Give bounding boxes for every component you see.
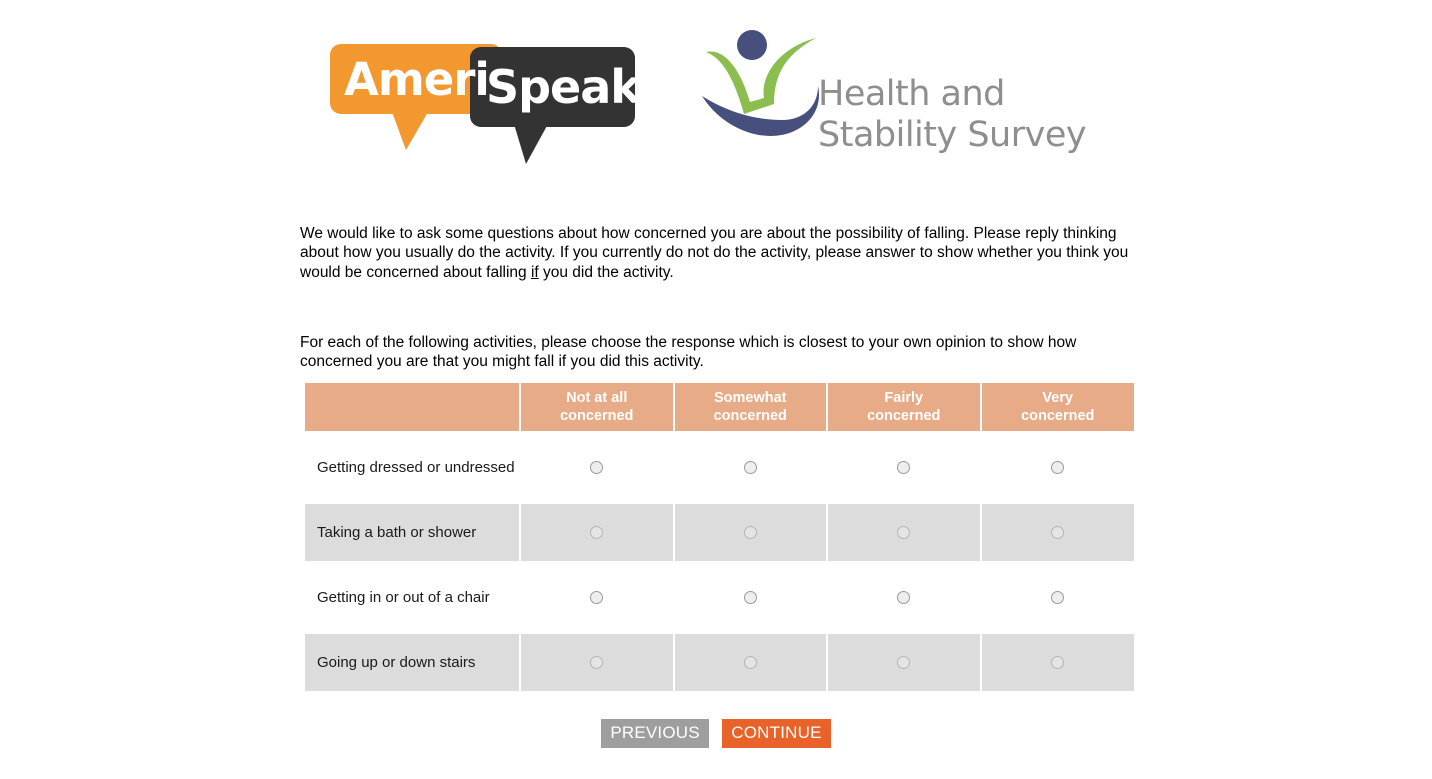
matrix-column-header-1: Not at all concerned — [520, 383, 674, 431]
radio-row2-not-at-all-concerned[interactable] — [590, 526, 603, 539]
column-header-line1: Fairly — [884, 390, 923, 406]
radio-cell-row3-col2[interactable] — [674, 561, 828, 634]
column-header-line2: concerned — [867, 408, 940, 424]
instruction-paragraph: For each of the following activities, pl… — [300, 333, 1120, 372]
radio-row3-not-at-all-concerned[interactable] — [590, 591, 603, 604]
radio-row4-somewhat-concerned[interactable] — [744, 656, 757, 669]
column-header-line1: Not at all — [566, 390, 627, 406]
intro-text-part2: you did the activity. — [539, 264, 674, 281]
radio-cell-row4-col4[interactable] — [981, 634, 1135, 691]
radio-row3-very-concerned[interactable] — [1051, 591, 1064, 604]
radio-cell-row2-col3[interactable] — [827, 504, 981, 561]
radio-row1-very-concerned[interactable] — [1051, 461, 1064, 474]
survey-logo-text: Health and Stability Survey — [818, 74, 1086, 156]
speech-bubble-tail-orange-icon — [392, 112, 428, 150]
table-row: Getting dressed or undressed — [305, 431, 1134, 504]
radio-row4-fairly-concerned[interactable] — [897, 656, 910, 669]
radio-cell-row2-col2[interactable] — [674, 504, 828, 561]
amerispeak-word-ameri: Ameri — [344, 57, 489, 102]
activity-label: Getting dressed or undressed — [305, 431, 520, 504]
radio-cell-row2-col4[interactable] — [981, 504, 1135, 561]
column-header-line2: concerned — [714, 408, 787, 424]
radio-cell-row1-col1[interactable] — [520, 431, 674, 504]
radio-row2-very-concerned[interactable] — [1051, 526, 1064, 539]
intro-emphasis-if: if — [531, 264, 539, 281]
speech-bubble-tail-dark-icon — [514, 124, 548, 164]
intro-paragraph: We would like to ask some questions abou… — [300, 224, 1132, 283]
survey-logo-line1: Health and — [818, 74, 1086, 115]
table-row: Going up or down stairs — [305, 634, 1134, 691]
amerispeak-logo: Ameri Speak — [330, 44, 635, 144]
running-figure-icon — [700, 28, 825, 143]
radio-cell-row2-col1[interactable] — [520, 504, 674, 561]
activity-label: Going up or down stairs — [305, 634, 520, 691]
navigation-bar: PREVIOUS CONTINUE — [0, 719, 1432, 748]
radio-row3-fairly-concerned[interactable] — [897, 591, 910, 604]
table-row: Taking a bath or shower — [305, 504, 1134, 561]
radio-cell-row4-col3[interactable] — [827, 634, 981, 691]
radio-row4-very-concerned[interactable] — [1051, 656, 1064, 669]
table-row: Getting in or out of a chair — [305, 561, 1134, 634]
column-header-line1: Somewhat — [714, 390, 787, 406]
radio-row1-somewhat-concerned[interactable] — [744, 461, 757, 474]
activity-label: Taking a bath or shower — [305, 504, 520, 561]
column-header-line2: concerned — [560, 408, 633, 424]
radio-row1-fairly-concerned[interactable] — [897, 461, 910, 474]
matrix-header-row: Not at all concerned Somewhat concerned … — [305, 383, 1134, 431]
matrix-column-header-2: Somewhat concerned — [674, 383, 828, 431]
matrix-column-header-3: Fairly concerned — [827, 383, 981, 431]
concern-matrix-table: Not at all concerned Somewhat concerned … — [305, 383, 1134, 691]
radio-row4-not-at-all-concerned[interactable] — [590, 656, 603, 669]
radio-cell-row4-col2[interactable] — [674, 634, 828, 691]
continue-button[interactable]: CONTINUE — [722, 719, 830, 748]
radio-cell-row4-col1[interactable] — [520, 634, 674, 691]
radio-row2-fairly-concerned[interactable] — [897, 526, 910, 539]
speech-bubble-orange-icon: Ameri — [330, 44, 502, 114]
radio-row2-somewhat-concerned[interactable] — [744, 526, 757, 539]
radio-cell-row3-col4[interactable] — [981, 561, 1135, 634]
survey-logo-line2: Stability Survey — [818, 115, 1086, 156]
radio-cell-row1-col4[interactable] — [981, 431, 1135, 504]
health-stability-survey-logo: Health and Stability Survey — [700, 28, 1100, 148]
radio-cell-row1-col2[interactable] — [674, 431, 828, 504]
radio-cell-row3-col3[interactable] — [827, 561, 981, 634]
radio-row3-somewhat-concerned[interactable] — [744, 591, 757, 604]
speech-bubble-dark-icon: Speak — [470, 47, 635, 127]
radio-cell-row3-col1[interactable] — [520, 561, 674, 634]
column-header-line2: concerned — [1021, 408, 1094, 424]
activity-label: Getting in or out of a chair — [305, 561, 520, 634]
logo-bar: Ameri Speak Health and Stability Survey — [0, 0, 1432, 175]
previous-button[interactable]: PREVIOUS — [601, 719, 708, 748]
radio-row1-not-at-all-concerned[interactable] — [590, 461, 603, 474]
matrix-corner-cell — [305, 383, 520, 431]
intro-text-part1: We would like to ask some questions abou… — [300, 225, 1128, 281]
matrix-column-header-4: Very concerned — [981, 383, 1135, 431]
amerispeak-word-speak: Speak — [486, 64, 640, 110]
column-header-line1: Very — [1042, 390, 1073, 406]
radio-cell-row1-col3[interactable] — [827, 431, 981, 504]
